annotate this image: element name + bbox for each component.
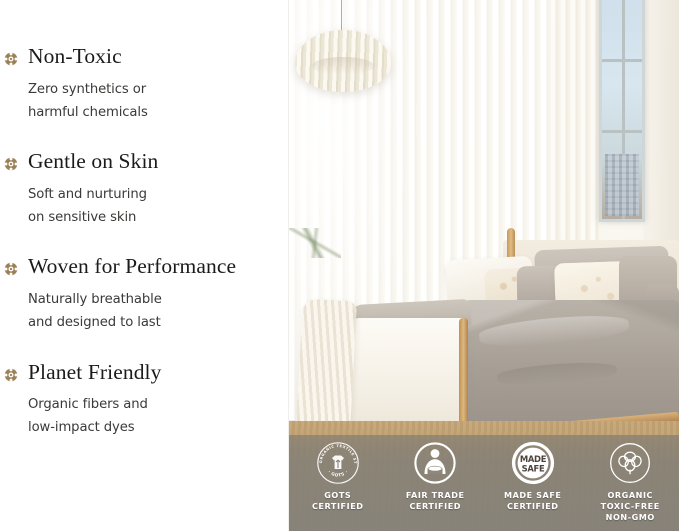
badge-organic-toxic-free-non-gmo: ORGANIC TOXIC-FREE NON-GMO [584, 441, 676, 523]
svg-text:MADE: MADE [520, 454, 547, 464]
feature-description: Zero synthetics or harmful chemicals [28, 79, 288, 124]
badge-label-line: CERTIFIED [406, 501, 465, 512]
svg-text:SAFE: SAFE [521, 464, 544, 474]
badge-label-line: NON-GMO [601, 512, 660, 523]
badge-label-line: CERTIFIED [312, 501, 364, 512]
made-safe-seal-icon: MADE SAFE [511, 441, 555, 485]
badge-label-line: ORGANIC [601, 490, 660, 501]
badge-label: MADE SAFE CERTIFIED [504, 490, 561, 512]
feature-title: Non-Toxic [28, 44, 288, 70]
feature-title: Gentle on Skin [28, 149, 288, 175]
bedroom-photo: GLOBAL ORGANIC TEXTILE STANDARD · GOTS ·… [289, 0, 679, 531]
bed-footboard-rail [459, 318, 468, 438]
feature-title: Planet Friendly [28, 360, 288, 386]
feature-description: Soft and nurturing on sensitive skin [28, 184, 288, 229]
badge-made-safe-certified: MADE SAFE MADE SAFE CERTIFIED [487, 441, 579, 512]
pendant-lamp-shade [295, 30, 391, 92]
badge-label-line: TOXIC-FREE [601, 501, 660, 512]
features-list: Non-Toxic Zero synthetics or harmful che… [0, 0, 289, 531]
badge-label-line: FAIR TRADE [406, 490, 465, 501]
badge-fair-trade-certified: FAIR TRADE CERTIFIED [389, 441, 481, 512]
window [599, 0, 645, 222]
fair-trade-person-icon [413, 441, 457, 485]
badge-label: ORGANIC TOXIC-FREE NON-GMO [601, 490, 660, 523]
feature-item-woven-for-performance: Woven for Performance Naturally breathab… [0, 254, 288, 334]
feature-description-line: Organic fibers and [28, 394, 288, 417]
gots-seal-icon: GLOBAL ORGANIC TEXTILE STANDARD · GOTS · [316, 441, 360, 485]
feature-item-gentle-on-skin: Gentle on Skin Soft and nurturing on sen… [0, 149, 288, 229]
floral-ornament-icon [4, 52, 18, 66]
window-glass [602, 0, 642, 219]
certification-badge-bar: GLOBAL ORGANIC TEXTILE STANDARD · GOTS ·… [289, 435, 679, 531]
badge-label: GOTS CERTIFIED [312, 490, 364, 512]
badge-gots-certified: GLOBAL ORGANIC TEXTILE STANDARD · GOTS ·… [292, 441, 384, 512]
floral-ornament-icon [4, 157, 18, 171]
pendant-lamp-cord [341, 0, 342, 34]
feature-description: Organic fibers and low-impact dyes [28, 394, 288, 439]
feature-description-line: Zero synthetics or [28, 79, 288, 102]
feature-description: Naturally breathable and designed to las… [28, 289, 288, 334]
feature-description-line: and designed to last [28, 312, 288, 335]
badge-label-line: CERTIFIED [504, 501, 561, 512]
feature-description-line: low-impact dyes [28, 417, 288, 440]
badge-label: FAIR TRADE CERTIFIED [406, 490, 465, 512]
feature-description-line: Soft and nurturing [28, 184, 288, 207]
badge-label-line: MADE SAFE [504, 490, 561, 501]
svg-text:· GOTS ·: · GOTS · [327, 469, 349, 478]
feature-item-planet-friendly: Planet Friendly Organic fibers and low-i… [0, 360, 288, 440]
floral-ornament-icon [4, 262, 18, 276]
city-skyline-view [605, 154, 639, 216]
badge-label-line: GOTS [312, 490, 364, 501]
feature-description-line: on sensitive skin [28, 207, 288, 230]
product-feature-panel: Non-Toxic Zero synthetics or harmful che… [0, 0, 679, 531]
plant-sprig [289, 228, 341, 258]
feature-description-line: Naturally breathable [28, 289, 288, 312]
cotton-boll-icon [608, 441, 652, 485]
feature-item-non-toxic: Non-Toxic Zero synthetics or harmful che… [0, 44, 288, 124]
floral-ornament-icon [4, 368, 18, 382]
feature-description-line: harmful chemicals [28, 102, 288, 125]
feature-title: Woven for Performance [28, 254, 288, 280]
